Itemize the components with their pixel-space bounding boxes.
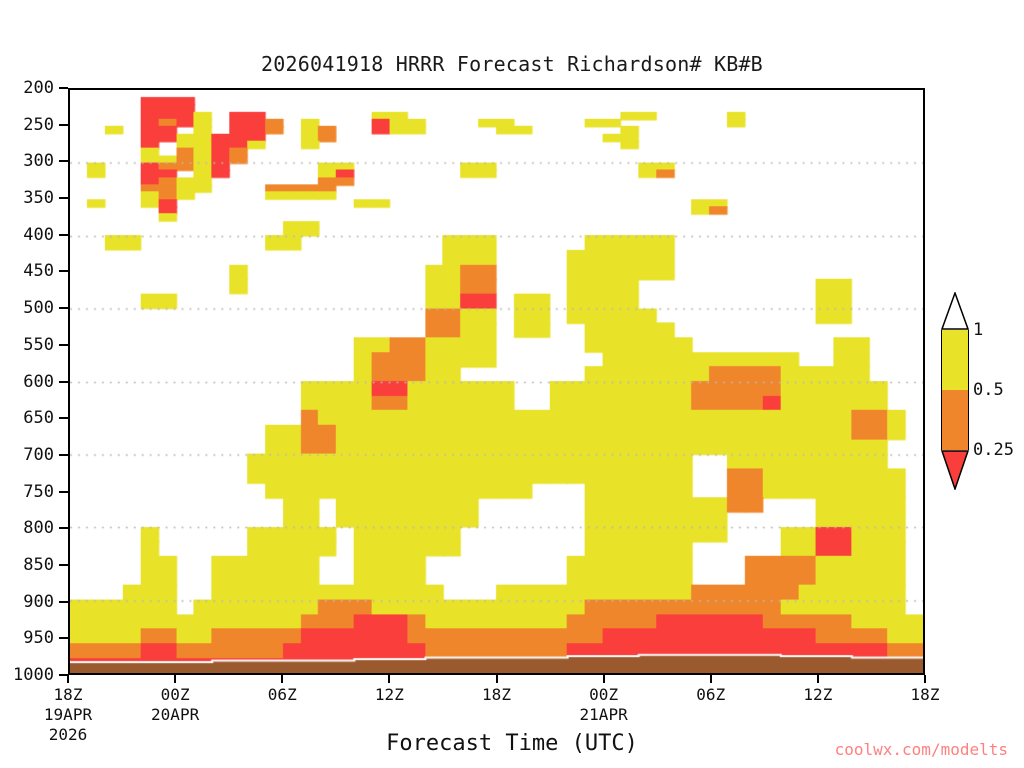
y-tick-label: 600 — [23, 372, 54, 392]
x-tick-mark — [710, 675, 712, 683]
terrain-canvas — [70, 90, 923, 673]
x-tick-mark — [174, 675, 176, 683]
x-tick-label: 12Z — [375, 685, 404, 704]
y-tick-label: 400 — [23, 225, 54, 245]
colorbar-legend: 10.50.25 — [941, 292, 969, 488]
y-tick-mark — [59, 344, 68, 346]
x-tick-label: 12Z — [803, 685, 832, 704]
y-tick-mark — [59, 637, 68, 639]
y-tick-mark — [59, 160, 68, 162]
colorbar-tick-label: 1 — [973, 320, 983, 340]
y-tick-mark — [59, 307, 68, 309]
x-tick-mark — [67, 675, 69, 683]
watermark: coolwx.com/modelts — [835, 740, 1008, 759]
x-tick-mark — [496, 675, 498, 683]
plot-area — [68, 88, 925, 675]
y-tick-label: 500 — [23, 298, 54, 318]
y-tick-label: 450 — [23, 261, 54, 281]
y-tick-mark — [59, 124, 68, 126]
x-tick-label: 18Z — [54, 685, 83, 704]
y-tick-label: 850 — [23, 555, 54, 575]
y-tick-label: 750 — [23, 482, 54, 502]
x-tick-mark — [388, 675, 390, 683]
y-axis: 2002503003504004505005506006507007508008… — [0, 88, 68, 675]
y-tick-label: 1000 — [13, 665, 54, 685]
x-tick-mark — [281, 675, 283, 683]
chart-title: 2026041918 HRRR Forecast Richardson# KB#… — [0, 52, 1024, 76]
x-tick-label: 00Z — [161, 685, 190, 704]
y-tick-label: 200 — [23, 78, 54, 98]
colorbar-tick-label: 0.5 — [973, 380, 1004, 400]
colorbar-segment-orange — [941, 390, 969, 450]
y-tick-label: 700 — [23, 445, 54, 465]
x-tick-date-label: 21APR — [580, 705, 628, 724]
y-tick-label: 950 — [23, 628, 54, 648]
x-tick-mark — [817, 675, 819, 683]
x-tick-label: 18Z — [911, 685, 940, 704]
y-tick-label: 300 — [23, 151, 54, 171]
y-tick-mark — [59, 270, 68, 272]
y-tick-mark — [59, 234, 68, 236]
x-tick-date-label: 19APR — [44, 705, 92, 724]
y-tick-mark — [59, 491, 68, 493]
y-tick-mark — [59, 381, 68, 383]
y-tick-mark — [59, 527, 68, 529]
y-tick-label: 550 — [23, 335, 54, 355]
y-tick-label: 800 — [23, 518, 54, 538]
chart-root: 2026041918 HRRR Forecast Richardson# KB#… — [0, 0, 1024, 768]
y-tick-mark — [59, 417, 68, 419]
x-tick-label: 06Z — [268, 685, 297, 704]
y-tick-mark — [59, 454, 68, 456]
y-tick-label: 250 — [23, 115, 54, 135]
y-tick-mark — [59, 601, 68, 603]
x-tick-label: 00Z — [589, 685, 618, 704]
y-tick-mark — [59, 197, 68, 199]
x-tick-mark — [603, 675, 605, 683]
y-tick-label: 900 — [23, 592, 54, 612]
x-tick-label: 06Z — [696, 685, 725, 704]
y-tick-mark — [59, 564, 68, 566]
x-tick-label: 18Z — [482, 685, 511, 704]
y-tick-label: 650 — [23, 408, 54, 428]
colorbar-under-arrow — [941, 450, 969, 488]
colorbar-segment-yellow — [941, 330, 969, 390]
colorbar-over-arrow — [941, 292, 969, 330]
x-tick-mark — [924, 675, 926, 683]
y-tick-mark — [59, 87, 68, 89]
colorbar-tick-label: 0.25 — [973, 440, 1014, 460]
y-tick-label: 350 — [23, 188, 54, 208]
x-tick-date-label: 20APR — [151, 705, 199, 724]
